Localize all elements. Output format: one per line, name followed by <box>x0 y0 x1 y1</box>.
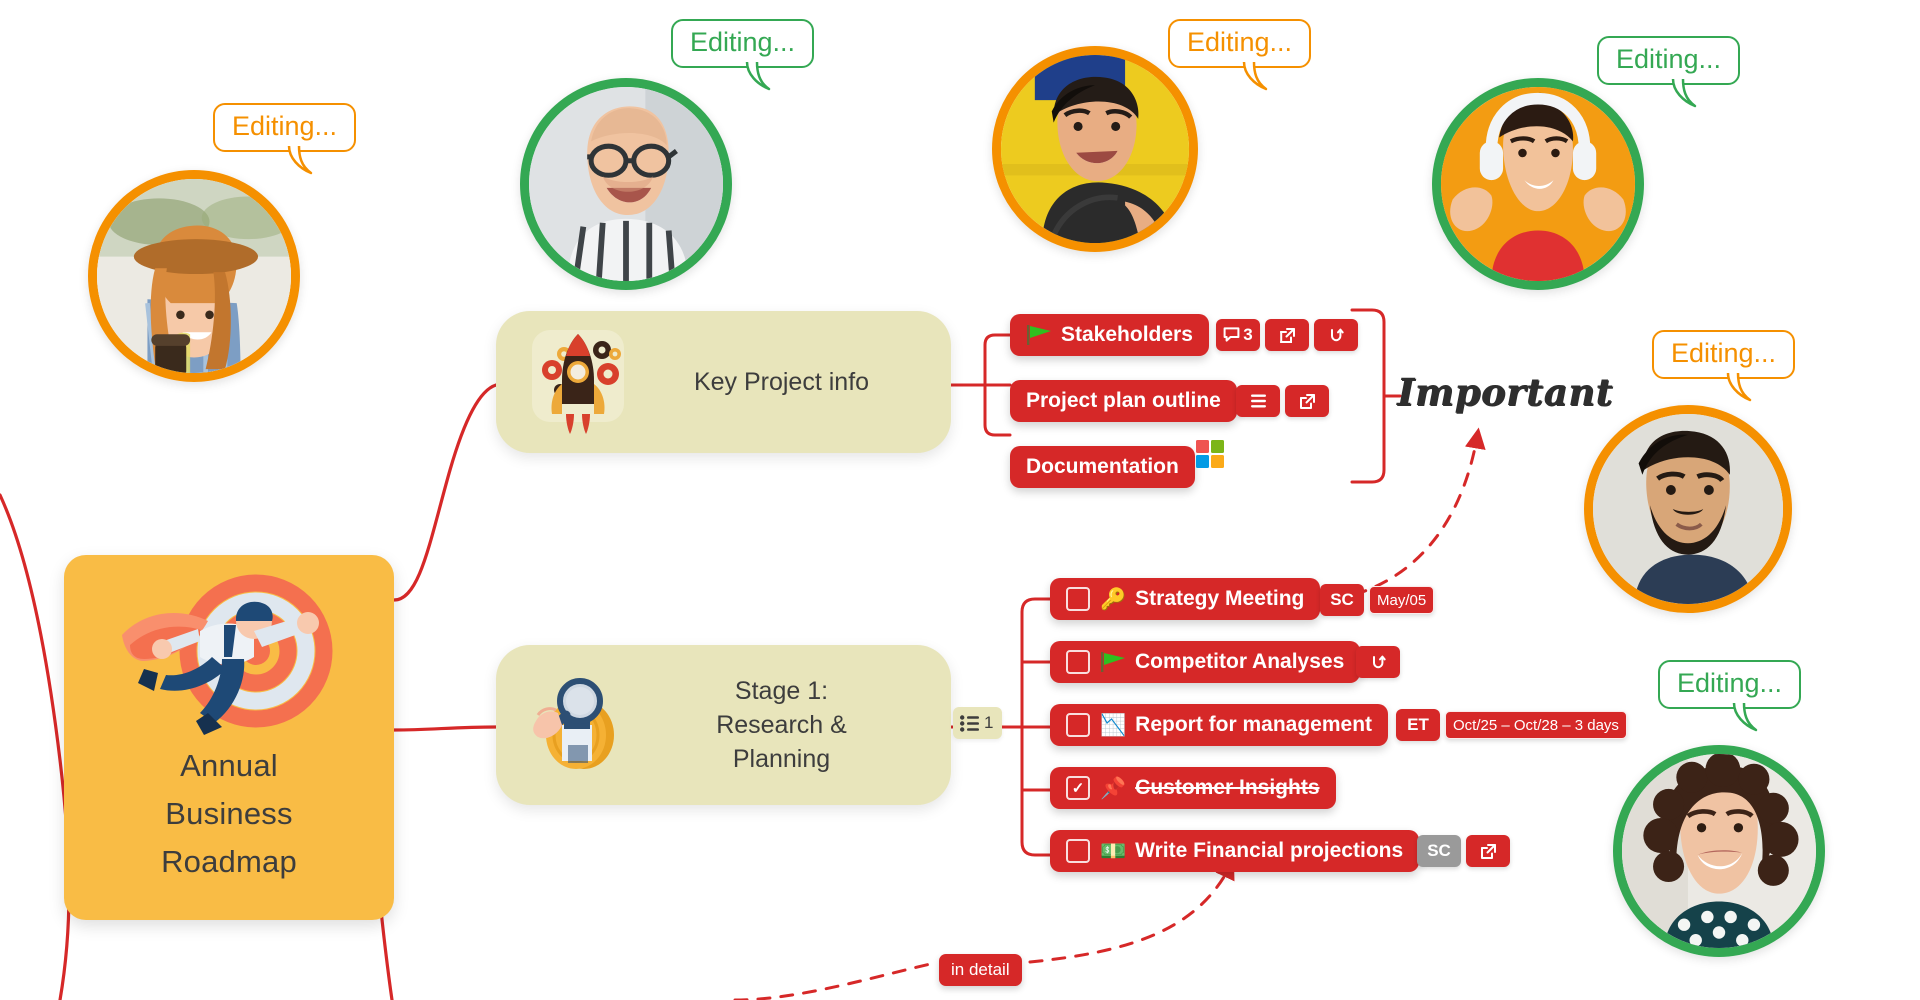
relation-arrow-icon-button[interactable] <box>1356 646 1400 678</box>
presence-status: Editing... <box>1616 44 1721 74</box>
young-man-yellow-wall-avatar <box>1001 55 1189 243</box>
central-node-title: Annual Business Roadmap <box>161 742 297 886</box>
stage-list-count-badge[interactable]: 1 <box>953 707 1002 739</box>
pushpin-icon: 📌 <box>1100 778 1126 799</box>
presence-bubble-6: Editing... <box>1658 660 1801 709</box>
list-icon <box>960 715 979 732</box>
chip-label: Project plan outline <box>1026 389 1221 413</box>
chip-label: Write Financial projections <box>1135 839 1403 863</box>
important-annotation[interactable]: Important <box>1397 370 1613 414</box>
woman-headphones-avatar <box>1441 87 1635 281</box>
chip-stakeholders[interactable]: Stakeholders <box>1010 314 1209 356</box>
task-checkbox[interactable] <box>1066 587 1090 611</box>
attachments-write-financial-projections[interactable]: SC <box>1417 835 1510 867</box>
chip-customer-insights[interactable]: ✓ 📌 Customer Insights <box>1050 767 1336 809</box>
chip-write-financial-projections[interactable]: 💵 Write Financial projections <box>1050 830 1419 872</box>
chip-label: Stakeholders <box>1061 323 1193 347</box>
chip-label: Report for management <box>1135 713 1372 737</box>
bearded-man-avatar <box>1593 414 1783 604</box>
task-checkbox[interactable] <box>1066 650 1090 674</box>
woman-hat-coffee-avatar <box>97 179 291 373</box>
stage-label-line-3: Planning <box>638 742 925 776</box>
attachments-report-for-management[interactable]: ET Oct/25 – Oct/28 – 3 days <box>1396 709 1627 741</box>
presence-bubble-4: Editing... <box>1597 36 1740 85</box>
note-lines-icon <box>1249 393 1268 409</box>
avatar-user-6[interactable] <box>1613 745 1825 957</box>
presence-bubble-1: Editing... <box>213 103 356 152</box>
central-node[interactable]: Annual Business Roadmap <box>64 555 394 920</box>
presence-bubble-2: Editing... <box>671 19 814 68</box>
bubble-tail-icon <box>1240 62 1274 92</box>
curly-hair-woman-avatar <box>1622 754 1816 948</box>
central-title-line-1: Annual <box>161 742 297 790</box>
external-link-icon-button[interactable] <box>1466 835 1510 867</box>
presence-status: Editing... <box>690 27 795 57</box>
chip-label: Strategy Meeting <box>1135 587 1304 611</box>
chip-competitor-analyses[interactable]: Competitor Analyses <box>1050 641 1360 683</box>
presence-status: Editing... <box>1187 27 1292 57</box>
superhero-target-icon <box>104 573 354 738</box>
magnifier-coin-icon <box>518 665 638 785</box>
chip-strategy-meeting[interactable]: 🔑 Strategy Meeting <box>1050 578 1320 620</box>
external-link-icon <box>1299 393 1316 410</box>
relation-arrow-icon-button[interactable] <box>1314 319 1358 351</box>
avatar-user-5[interactable] <box>1584 405 1792 613</box>
task-checkbox[interactable] <box>1066 713 1090 737</box>
central-title-line-2: Business <box>161 790 297 838</box>
avatar-user-3[interactable] <box>992 46 1198 252</box>
attachments-project-plan-outline[interactable] <box>1236 385 1329 417</box>
external-link-icon <box>1279 327 1296 344</box>
external-link-icon <box>1480 843 1497 860</box>
note-lines-icon-button[interactable] <box>1236 385 1280 417</box>
avatar-user-1[interactable] <box>88 170 300 382</box>
money-icon: 💵 <box>1100 841 1126 862</box>
topic-label-stage-1: Stage 1: Research & Planning <box>638 674 951 776</box>
stage-label-line-2: Research & <box>638 708 925 742</box>
avatar-user-2[interactable] <box>520 78 732 290</box>
stage-label-line-1: Stage 1: <box>638 674 925 708</box>
attachments-strategy-meeting[interactable]: SC May/05 <box>1320 584 1434 616</box>
task-checkbox-checked[interactable]: ✓ <box>1066 776 1090 800</box>
attachments-documentation[interactable] <box>1194 438 1226 470</box>
chip-label: Documentation <box>1026 455 1179 479</box>
microsoft-office-icon-button[interactable] <box>1194 438 1226 470</box>
microsoft-office-icon <box>1194 438 1226 470</box>
bubble-tail-icon <box>1730 703 1764 733</box>
key-icon: 🔑 <box>1100 589 1126 610</box>
green-flag-icon <box>1026 324 1052 346</box>
presence-status: Editing... <box>232 111 337 141</box>
chart-down-icon: 📉 <box>1100 715 1126 736</box>
mindmap-canvas[interactable]: Annual Business Roadmap <box>0 0 1920 1000</box>
chip-label: Competitor Analyses <box>1135 650 1344 674</box>
attachments-stakeholders[interactable]: 3 <box>1216 319 1358 351</box>
bald-man-glasses-avatar <box>529 87 723 281</box>
central-title-line-3: Roadmap <box>161 838 297 886</box>
external-link-icon-button[interactable] <box>1285 385 1329 417</box>
assignee-badge[interactable]: SC <box>1320 584 1364 616</box>
chip-project-plan-outline[interactable]: Project plan outline <box>1010 380 1237 422</box>
in-detail-annotation[interactable]: in detail <box>939 954 1022 986</box>
comment-icon-button[interactable]: 3 <box>1216 319 1260 351</box>
external-link-icon-button[interactable] <box>1265 319 1309 351</box>
assignee-badge[interactable]: ET <box>1396 709 1440 741</box>
comment-icon <box>1223 327 1240 343</box>
date-badge[interactable]: May/05 <box>1369 586 1434 614</box>
task-checkbox[interactable] <box>1066 839 1090 863</box>
assignee-badge[interactable]: SC <box>1417 835 1461 867</box>
bubble-tail-icon <box>285 146 319 176</box>
date-badge[interactable]: Oct/25 – Oct/28 – 3 days <box>1445 711 1627 739</box>
bubble-tail-icon <box>743 62 777 92</box>
topic-node-key-project-info[interactable]: Key Project info <box>496 311 951 453</box>
rocket-gears-icon <box>518 322 638 442</box>
avatar-user-4[interactable] <box>1432 78 1644 290</box>
relation-arrow-icon <box>1370 654 1387 671</box>
chip-report-for-management[interactable]: 📉 Report for management <box>1050 704 1388 746</box>
attachments-competitor-analyses[interactable] <box>1356 646 1400 678</box>
green-flag-icon <box>1100 651 1126 673</box>
topic-label-key-project-info: Key Project info <box>638 365 951 399</box>
presence-bubble-5: Editing... <box>1652 330 1795 379</box>
presence-bubble-3: Editing... <box>1168 19 1311 68</box>
relation-arrow-icon <box>1328 327 1345 344</box>
chip-documentation[interactable]: Documentation <box>1010 446 1195 488</box>
bubble-tail-icon <box>1669 79 1703 109</box>
topic-node-stage-1[interactable]: Stage 1: Research & Planning <box>496 645 951 805</box>
chip-label: Customer Insights <box>1135 776 1319 800</box>
comment-count: 3 <box>1243 325 1252 345</box>
presence-status: Editing... <box>1677 668 1782 698</box>
stage-list-count: 1 <box>984 713 993 733</box>
bubble-tail-icon <box>1724 373 1758 403</box>
presence-status: Editing... <box>1671 338 1776 368</box>
